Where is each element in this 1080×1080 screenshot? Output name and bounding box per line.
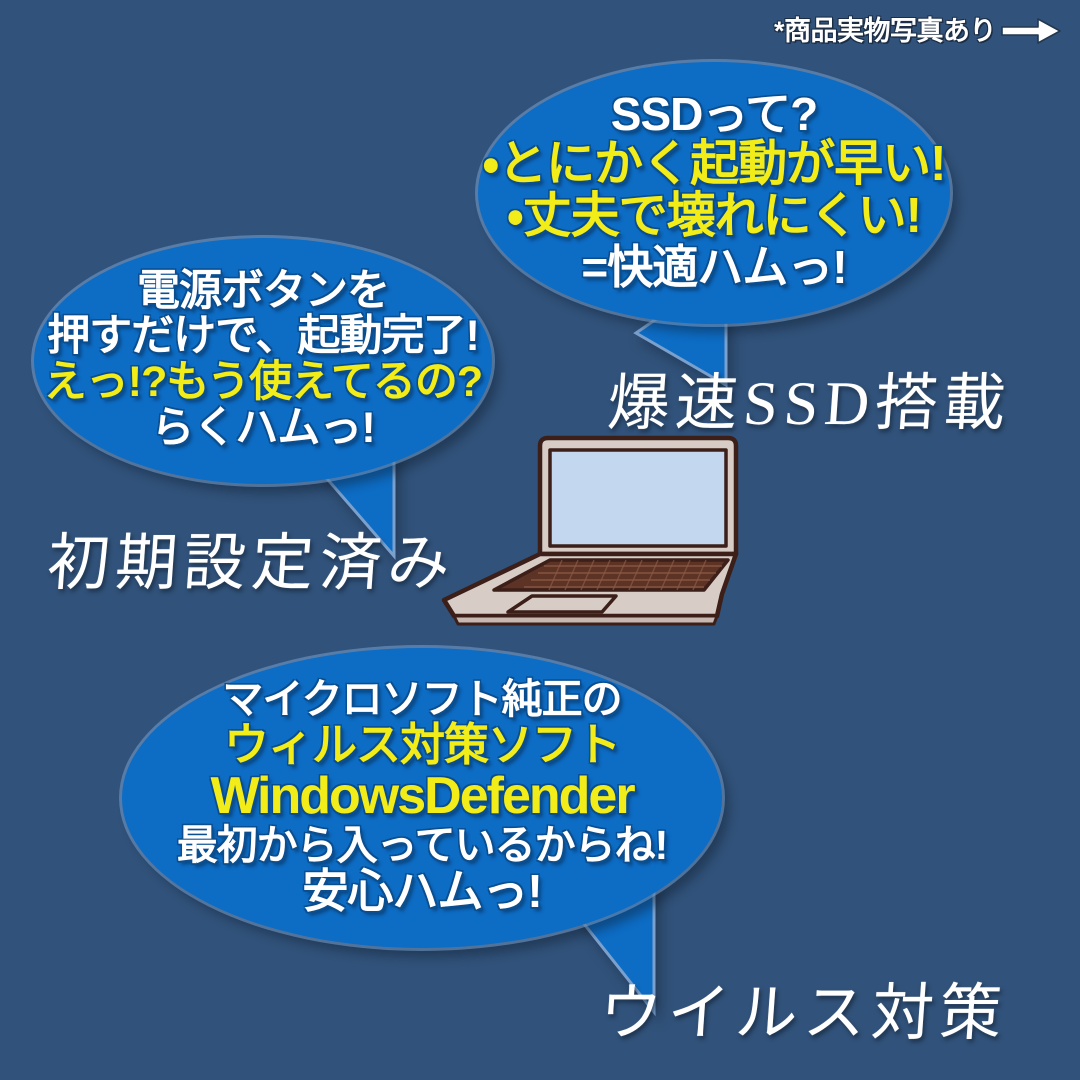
speech-bubble-startup: 電源ボタンを 押すだけで、起動完了! えっ!?もう使えてるの? らくハムっ! — [34, 238, 492, 484]
speech-bubble-ssd: SSDって? ・とにかく起動が早い! ・丈夫で壊れにくい! =快適ハムっ! — [478, 62, 950, 324]
bubble-line: ・とにかく起動が早い! — [483, 139, 946, 191]
bubble-line: ・丈夫で壊れにくい! — [507, 191, 921, 243]
caption-uirusu-taisaku: ウイルス対策 — [597, 962, 1011, 1052]
bubble-line: らくハムっ! — [151, 406, 374, 452]
product-photo-note-label: *商品実物写真あり — [774, 18, 996, 45]
bubble-line: ウィルス対策ソフト — [224, 721, 620, 769]
caption-bakusoku-ssd: 爆速SSD搭載 — [605, 352, 1015, 442]
bubble-line: マイクロソフト純正の — [222, 678, 621, 721]
caption-shoki-settei: 初期設定済み — [45, 512, 459, 602]
product-photo-note: *商品実物写真あり — [774, 16, 1062, 46]
bubble-line: 電源ボタンを — [137, 269, 389, 315]
bubble-line: WindowsDefender — [210, 769, 633, 824]
promo-graphic-canvas: *商品実物写真あり SSDって? ・とにかく起動が早い! ・丈夫で壊れにくい! … — [0, 0, 1080, 1080]
speech-bubble-defender: マイクロソフト純正の ウィルス対策ソフト WindowsDefender 最初か… — [122, 648, 722, 948]
speech-bubble-ssd-text: SSDって? ・とにかく起動が早い! ・丈夫で壊れにくい! =快適ハムっ! — [478, 62, 950, 324]
bubble-line: えっ!?もう使えてるの? — [44, 360, 482, 406]
bubble-line: 安心ハムっ! — [302, 867, 541, 916]
bubble-line: =快適ハムっ! — [581, 243, 846, 292]
bubble-line: 最初から入っているからね! — [177, 824, 668, 867]
speech-bubble-defender-text: マイクロソフト純正の ウィルス対策ソフト WindowsDefender 最初か… — [122, 648, 722, 948]
speech-bubble-startup-text: 電源ボタンを 押すだけで、起動完了! えっ!?もう使えてるの? らくハムっ! — [34, 238, 492, 484]
arrow-right-icon — [1000, 16, 1062, 46]
bubble-line: SSDって? — [611, 90, 817, 139]
bubble-line: 押すだけで、起動完了! — [47, 314, 479, 360]
